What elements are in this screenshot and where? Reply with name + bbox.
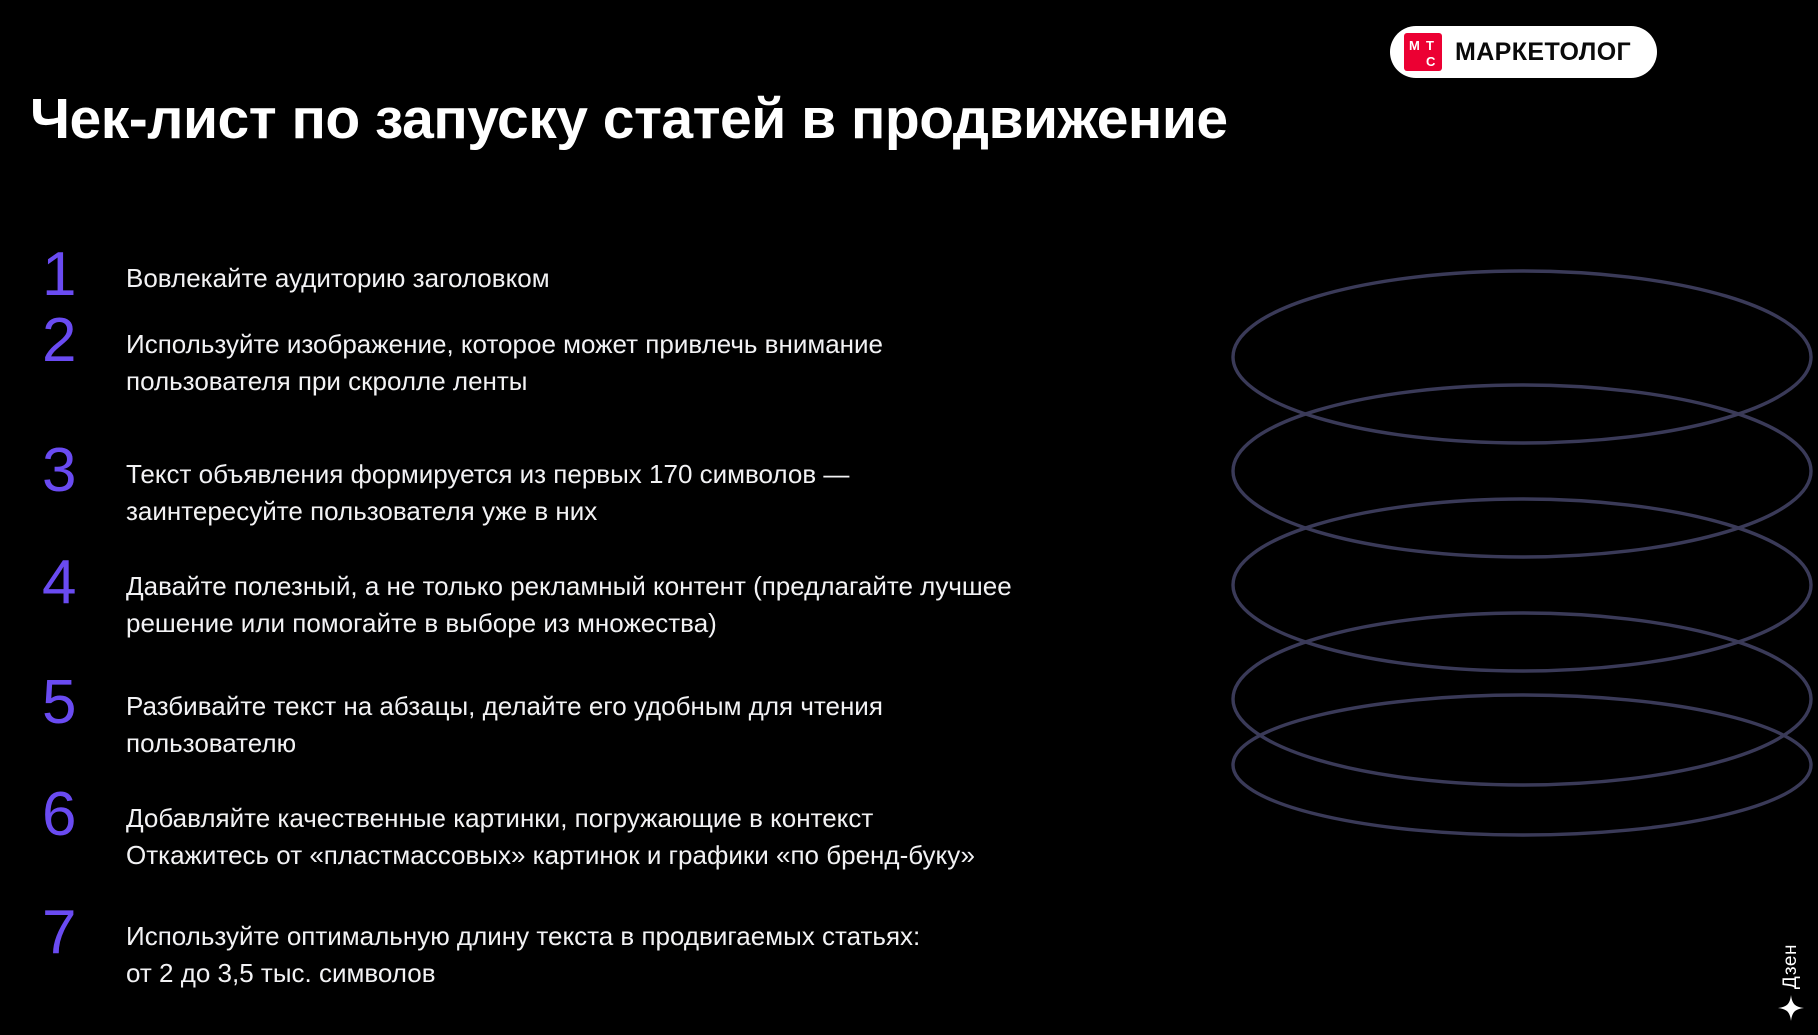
item-line: Используйте оптимальную длину текста в п…: [126, 918, 920, 955]
item-text: Вовлекайте аудиторию заголовком: [126, 250, 550, 297]
item-text: Добавляйте качественные картинки, погруж…: [126, 790, 975, 874]
list-item: 6 Добавляйте качественные картинки, погр…: [30, 790, 975, 874]
item-text: Давайте полезный, а не только рекламный …: [126, 558, 1012, 642]
item-line: пользователя при скролле ленты: [126, 363, 883, 400]
item-line: от 2 до 3,5 тыс. символов: [126, 955, 920, 992]
item-text: Используйте оптимальную длину текста в п…: [126, 908, 920, 992]
item-text: Разбивайте текст на абзацы, делайте его …: [126, 678, 883, 762]
item-number: 7: [30, 908, 126, 959]
brand-name-label: МАРКЕТОЛОГ: [1455, 38, 1631, 67]
list-item: 2 Используйте изображение, которое может…: [30, 316, 883, 400]
item-text: Используйте изображение, которое может п…: [126, 316, 883, 400]
item-line: Добавляйте качественные картинки, погруж…: [126, 800, 975, 837]
list-item: 4 Давайте полезный, а не только рекламны…: [30, 558, 1012, 642]
item-line: Вовлекайте аудиторию заголовком: [126, 260, 550, 297]
mts-letter-m: М: [1409, 39, 1420, 52]
item-number: 6: [30, 790, 126, 841]
mts-logo-icon: М Т С: [1404, 33, 1442, 71]
dzen-label: Дзен: [1780, 944, 1802, 989]
list-item: 7 Используйте оптимальную длину текста в…: [30, 908, 920, 992]
item-number: 5: [30, 678, 126, 729]
item-number: 3: [30, 446, 126, 497]
item-line: Давайте полезный, а не только рекламный …: [126, 568, 1012, 605]
sparkle-icon: [1778, 995, 1804, 1021]
item-line: Откажитесь от «пластмассовых» картинок и…: [126, 837, 975, 874]
item-number: 2: [30, 316, 126, 367]
mts-letter-t: Т: [1426, 39, 1434, 52]
page-title: Чек-лист по запуску статей в продвижение: [30, 86, 1228, 152]
item-line: заинтересуйте пользователя уже в них: [126, 493, 849, 530]
brand-badge: М Т С МАРКЕТОЛОГ: [1390, 26, 1657, 78]
slide-canvas: М Т С МАРКЕТОЛОГ Чек-лист по запуску ста…: [0, 0, 1818, 1035]
list-item: 3 Текст объявления формируется из первых…: [30, 446, 849, 530]
item-line: Текст объявления формируется из первых 1…: [126, 456, 849, 493]
item-line: решение или помогайте в выборе из множес…: [126, 605, 1012, 642]
item-number: 4: [30, 558, 126, 609]
item-text: Текст объявления формируется из первых 1…: [126, 446, 849, 530]
item-number: 1: [30, 250, 126, 301]
stacked-ellipse-rings-decoration: [1225, 265, 1818, 840]
dzen-watermark: Дзен: [1778, 944, 1804, 1021]
list-item: 1 Вовлекайте аудиторию заголовком: [30, 250, 550, 301]
item-line: пользователю: [126, 725, 883, 762]
list-item: 5 Разбивайте текст на абзацы, делайте ег…: [30, 678, 883, 762]
item-line: Разбивайте текст на абзацы, делайте его …: [126, 688, 883, 725]
mts-letter-s: С: [1426, 55, 1435, 68]
item-line: Используйте изображение, которое может п…: [126, 326, 883, 363]
